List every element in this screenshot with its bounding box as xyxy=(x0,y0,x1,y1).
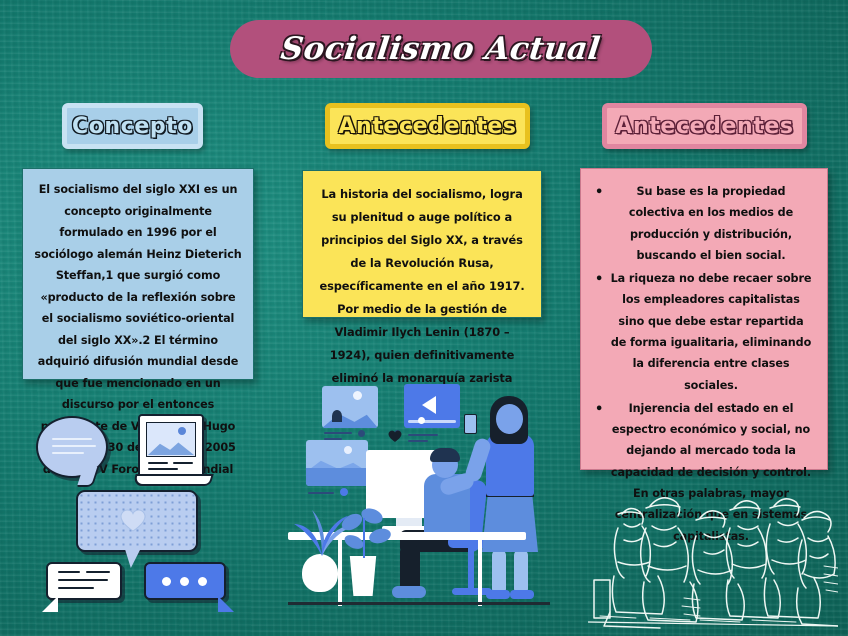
sun-icon xyxy=(353,391,362,400)
list-item: Su base es la propiedad colectiva en los… xyxy=(591,181,813,266)
play-icon xyxy=(422,396,436,414)
bubble-text-line xyxy=(58,587,94,589)
plant-pot xyxy=(348,556,378,596)
standing-woman-skirt xyxy=(482,496,538,552)
standing-woman-leg xyxy=(492,550,506,594)
speech-bubble-dotted-tail xyxy=(124,546,142,568)
content-box-antecedentes-caracteristicas: Su base es la propiedad colectiva en los… xyxy=(580,168,828,470)
standing-woman-shoe xyxy=(486,590,510,599)
desk-leg xyxy=(478,540,482,606)
video-progress-knob xyxy=(418,417,425,424)
bubble-text-line xyxy=(52,452,84,454)
bubble-text-line xyxy=(148,468,178,470)
section-header-antecedentes-caracteristicas-label: Antecedentes xyxy=(615,114,793,139)
title-banner: Socialismo Actual xyxy=(230,20,652,78)
bubble-text-line xyxy=(148,462,168,464)
smartphone-icon xyxy=(464,414,477,434)
moon-icon xyxy=(344,446,352,454)
plant-vase xyxy=(302,554,338,592)
typing-dot xyxy=(198,577,207,586)
section-header-antecedentes-historia-label: Antecedentes xyxy=(338,114,516,139)
bubble-text-line xyxy=(58,571,80,573)
antecedentes-historia-paragraph: La historia del socialismo, logra su ple… xyxy=(315,183,529,390)
landscape-card-water xyxy=(306,468,368,486)
assembly-engraving-illustration xyxy=(588,470,838,630)
card-dot xyxy=(358,430,365,437)
standing-woman-head xyxy=(496,404,523,434)
typing-dot xyxy=(180,577,189,586)
bubble-text-line xyxy=(173,462,193,464)
infographic-canvas: Socialismo Actual Concepto Antecedentes … xyxy=(0,0,848,636)
card-caption-line xyxy=(408,434,438,436)
section-header-concepto: Concepto xyxy=(62,103,203,149)
card-dot xyxy=(340,488,348,496)
heart-icon xyxy=(120,509,146,533)
bubble-text-line xyxy=(86,571,110,573)
workspace-illustration xyxy=(288,378,550,606)
section-header-antecedentes-historia: Antecedentes xyxy=(325,103,530,149)
section-header-antecedentes-caracteristicas: Antecedentes xyxy=(602,103,807,149)
standing-woman-shoe xyxy=(510,590,534,599)
content-box-concepto: El socialismo del siglo XXI es un concep… xyxy=(22,168,254,380)
potted-plant-leaves xyxy=(338,504,392,560)
section-header-concepto-label: Concepto xyxy=(72,114,193,139)
seated-man-hair xyxy=(430,448,460,462)
laptop-base xyxy=(132,474,213,486)
floor-line xyxy=(288,602,550,605)
bubble-text-line xyxy=(52,445,96,447)
person-silhouette-icon xyxy=(332,410,342,422)
speech-bubble-typing-tail xyxy=(218,596,234,612)
typing-dot xyxy=(162,577,171,586)
content-box-antecedentes-historia: La historia del socialismo, logra su ple… xyxy=(302,170,542,318)
sun-icon xyxy=(178,427,186,435)
bubble-text-line xyxy=(52,438,92,440)
list-item: La riqueza no debe recaer sobre los empl… xyxy=(591,268,813,396)
card-caption-line xyxy=(324,432,352,434)
page-title: Socialismo Actual xyxy=(279,31,603,67)
chat-bubbles-illustration xyxy=(28,412,242,618)
card-caption-line xyxy=(308,492,334,494)
card-caption-line xyxy=(408,440,428,442)
bubble-text-line xyxy=(58,579,108,581)
heart-icon xyxy=(388,430,402,443)
standing-woman-leg xyxy=(514,550,528,594)
video-progress-bar xyxy=(408,420,456,423)
seated-man-shoe xyxy=(392,586,426,598)
chair-post xyxy=(468,546,474,592)
